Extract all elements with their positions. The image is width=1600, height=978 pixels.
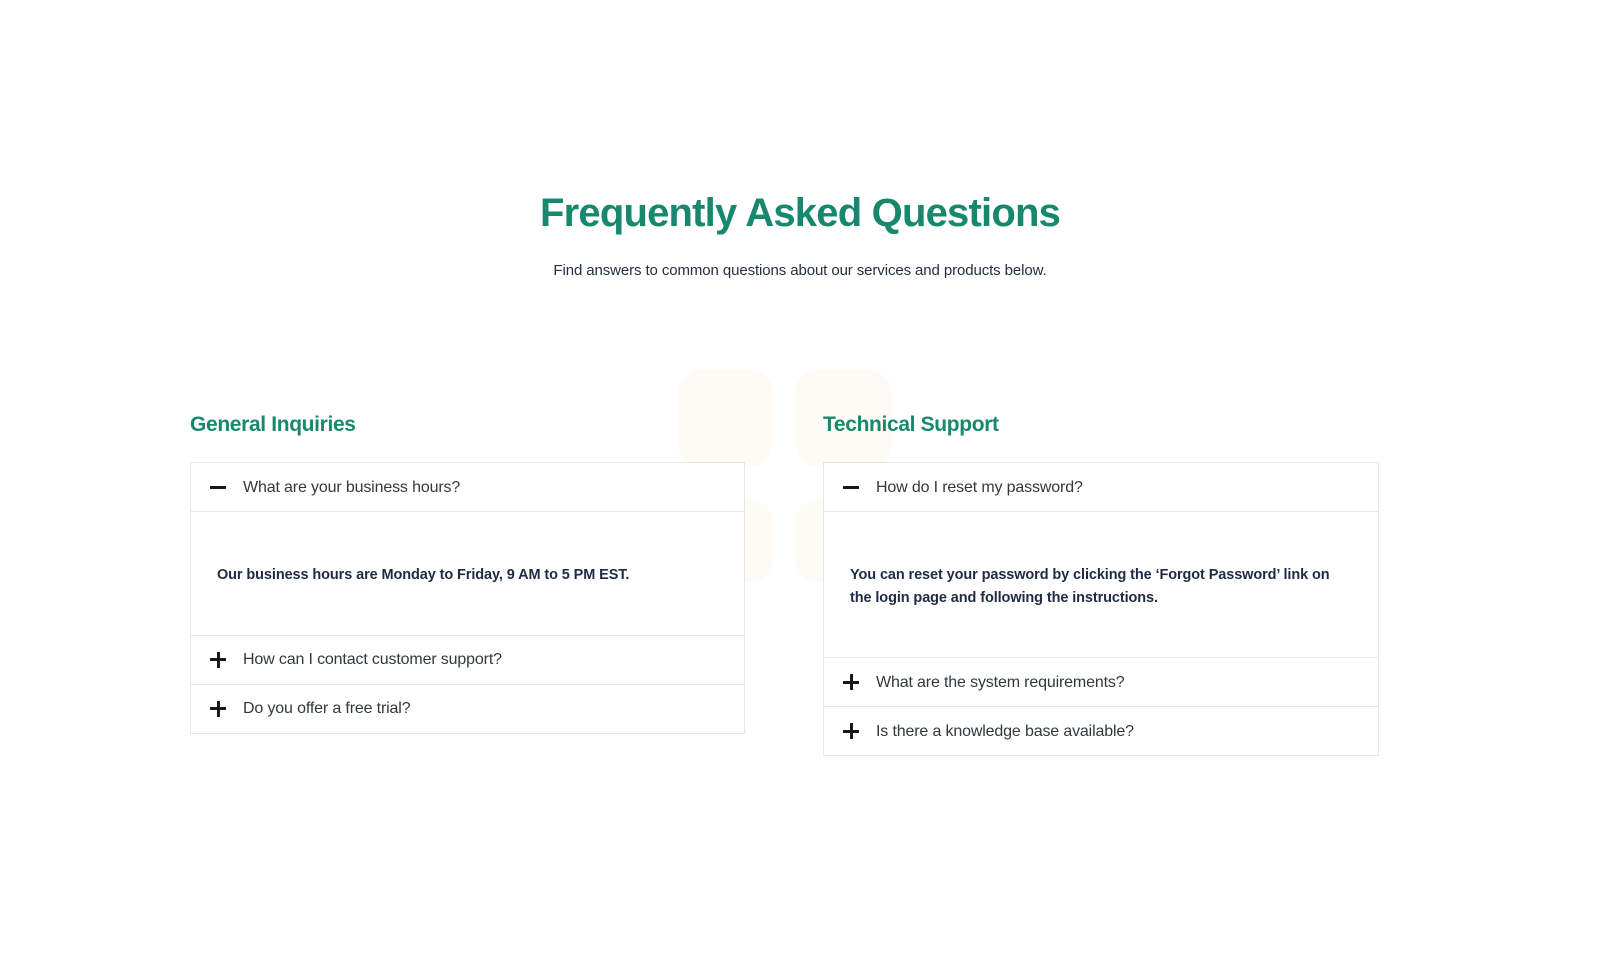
faq-column-technical-support: Technical Support How do I reset my pass… xyxy=(823,412,1379,756)
accordion-item: Do you offer a free trial? xyxy=(191,684,744,733)
accordion-item: Is there a knowledge base available? xyxy=(824,706,1378,755)
faq-page: Frequently Asked Questions Find answers … xyxy=(0,0,1600,978)
section-title-general-inquiries: General Inquiries xyxy=(190,412,745,437)
accordion-header[interactable]: Do you offer a free trial? xyxy=(191,685,744,733)
accordion-item: What are your business hours? Our busine… xyxy=(191,463,744,634)
accordion-question: What are the system requirements? xyxy=(876,673,1125,692)
section-title-technical-support: Technical Support xyxy=(823,412,1379,437)
accordion-general-inquiries: What are your business hours? Our busine… xyxy=(190,462,745,733)
accordion-header[interactable]: What are the system requirements? xyxy=(824,658,1378,706)
plus-icon[interactable] xyxy=(209,700,227,718)
faq-column-general-inquiries: General Inquiries What are your business… xyxy=(190,412,745,734)
minus-icon[interactable] xyxy=(842,478,860,496)
minus-icon[interactable] xyxy=(209,478,227,496)
plus-icon[interactable] xyxy=(842,722,860,740)
accordion-question: Do you offer a free trial? xyxy=(243,699,410,718)
page-title: Frequently Asked Questions xyxy=(0,190,1600,236)
accordion-header[interactable]: What are your business hours? xyxy=(191,463,744,511)
accordion-panel: You can reset your password by clicking … xyxy=(824,511,1378,657)
page-subtitle: Find answers to common questions about o… xyxy=(0,262,1600,279)
page-header: Frequently Asked Questions Find answers … xyxy=(0,190,1600,279)
faq-columns: General Inquiries What are your business… xyxy=(0,412,1600,772)
accordion-item: What are the system requirements? xyxy=(824,657,1378,706)
plus-icon[interactable] xyxy=(842,673,860,691)
accordion-question: Is there a knowledge base available? xyxy=(876,722,1134,741)
accordion-header[interactable]: How can I contact customer support? xyxy=(191,636,744,684)
accordion-header[interactable]: Is there a knowledge base available? xyxy=(824,707,1378,755)
accordion-item: How can I contact customer support? xyxy=(191,635,744,684)
accordion-item: How do I reset my password? You can rese… xyxy=(824,463,1378,657)
accordion-question: How do I reset my password? xyxy=(876,478,1083,497)
accordion-question: How can I contact customer support? xyxy=(243,650,502,669)
accordion-panel: Our business hours are Monday to Friday,… xyxy=(191,511,744,634)
accordion-header[interactable]: How do I reset my password? xyxy=(824,463,1378,511)
accordion-answer: Our business hours are Monday to Friday,… xyxy=(217,564,707,586)
accordion-technical-support: How do I reset my password? You can rese… xyxy=(823,462,1379,756)
accordion-question: What are your business hours? xyxy=(243,478,460,497)
accordion-answer: You can reset your password by clicking … xyxy=(850,564,1340,609)
plus-icon[interactable] xyxy=(209,651,227,669)
